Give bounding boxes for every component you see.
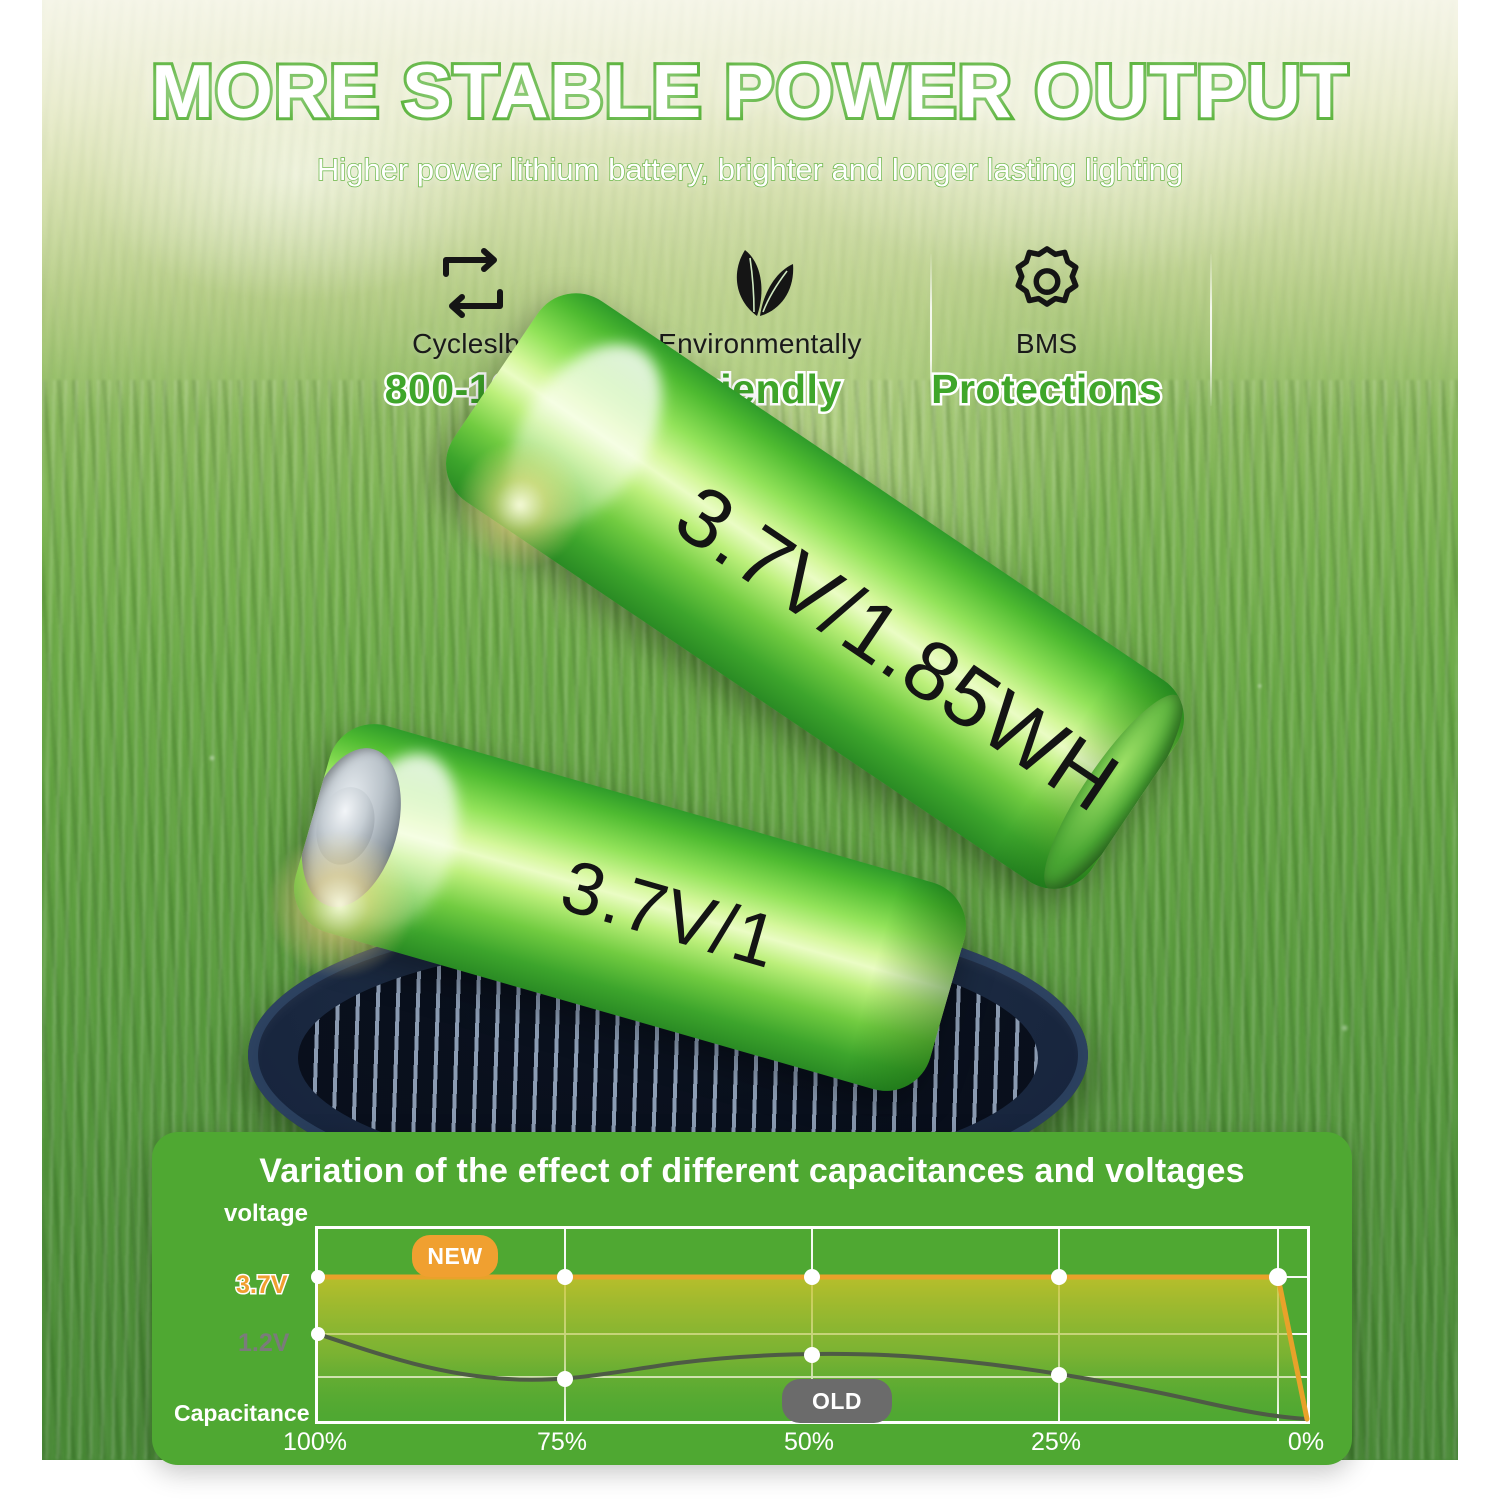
page-title: MORE STABLE POWER OUTPUT bbox=[0, 48, 1500, 134]
y-tick-1-2v: 1.2V bbox=[238, 1329, 289, 1358]
feature-caption: BMS bbox=[1016, 328, 1078, 360]
x-tick-25: 25% bbox=[1031, 1428, 1081, 1457]
gear-icon bbox=[1008, 240, 1086, 326]
x-tick-50: 50% bbox=[784, 1428, 834, 1457]
feature-row: Cycleslbs 800-1000 Environmentally Frien… bbox=[330, 240, 1190, 415]
y-tick-3-7v: 3.7V bbox=[236, 1271, 287, 1300]
x-tick-75: 75% bbox=[537, 1428, 587, 1457]
battery-highlight bbox=[477, 317, 693, 554]
feature-value: Protections bbox=[931, 366, 1162, 413]
feature-caption: Environmentally bbox=[658, 328, 862, 360]
battery-terminal-nub bbox=[308, 780, 383, 871]
y-axis-label: voltage bbox=[224, 1200, 308, 1228]
feature-bms: BMS Protections bbox=[903, 240, 1190, 413]
battery-label: 3.7V/1 bbox=[552, 843, 787, 985]
feature-divider bbox=[930, 254, 932, 406]
page-subtitle: Higher power lithium battery, brighter a… bbox=[0, 152, 1500, 188]
feature-divider bbox=[1210, 254, 1212, 406]
infographic-stage: MORE STABLE POWER OUTPUT Higher power li… bbox=[0, 0, 1500, 1500]
status-badge-new: NEW bbox=[412, 1235, 498, 1277]
x-tick-100: 100% bbox=[283, 1428, 347, 1457]
chart-title: Variation of the effect of different cap… bbox=[152, 1152, 1352, 1191]
status-badge-old: OLD bbox=[782, 1379, 892, 1423]
leaf-icon bbox=[719, 240, 801, 326]
x-tick-0: 0% bbox=[1288, 1428, 1324, 1457]
x-axis-label: Capacitance bbox=[174, 1400, 310, 1427]
recycle-loop-icon bbox=[434, 240, 512, 326]
chart-panel: Variation of the effect of different cap… bbox=[152, 1132, 1352, 1465]
